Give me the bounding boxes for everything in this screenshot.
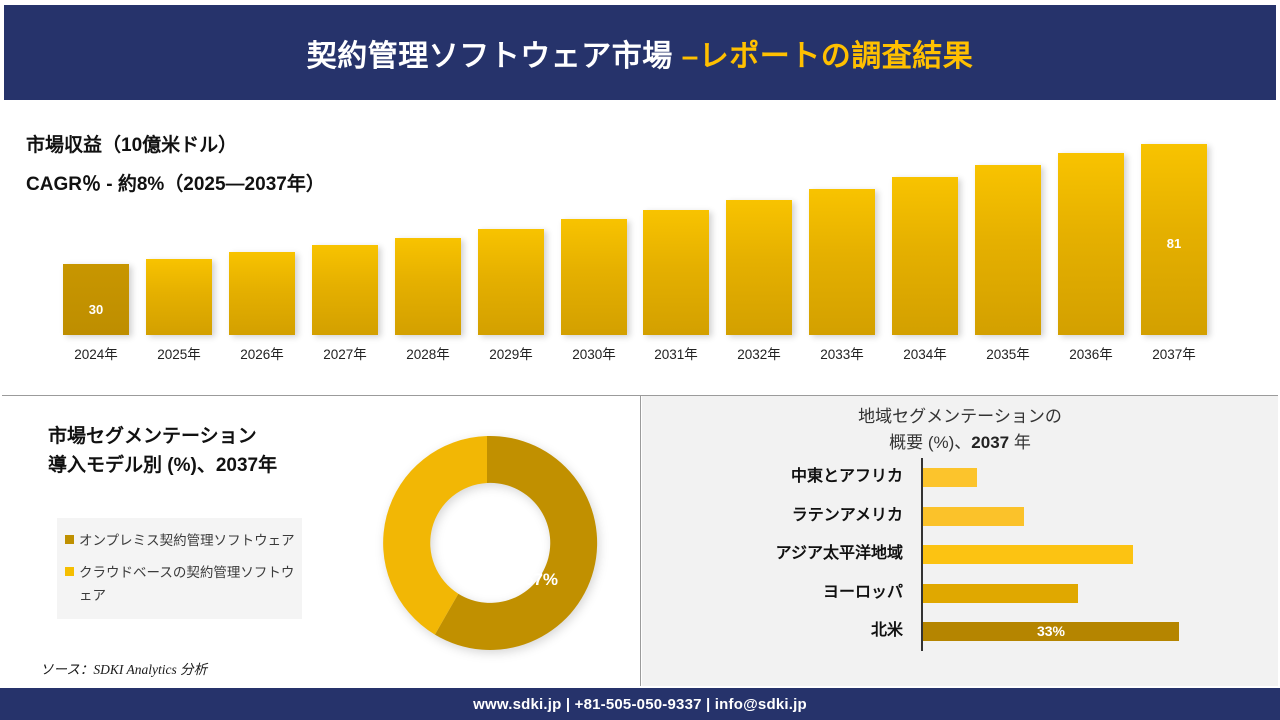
bar-rect <box>1058 153 1124 335</box>
bar-value-label: 81 <box>1141 236 1207 251</box>
legend-swatch-icon <box>65 567 74 576</box>
revenue-bar-chart: 市場収益（10億米ドル） CAGR％ - 約8%（2025―2037年） 308… <box>0 100 1280 395</box>
region-title-line1: 地域セグメンテーションの <box>642 404 1278 430</box>
bar-value-label: 30 <box>63 302 129 317</box>
axis-label-2037年: 2037年 <box>1134 343 1214 363</box>
page-title-main: 契約管理ソフトウェア市場 <box>307 40 682 73</box>
axis-label-2033年: 2033年 <box>802 343 882 363</box>
legend-item-on-premise[interactable]: オンプレミス契約管理ソフトウェア <box>65 530 296 552</box>
bar-rect <box>229 252 295 335</box>
bar-rect <box>478 229 544 335</box>
axis-label-2032年: 2032年 <box>719 343 799 363</box>
axis-label-2036年: 2036年 <box>1051 343 1131 363</box>
footer-contact: www.sdki.jp | +81-505-050-9337 | info@sd… <box>473 696 807 713</box>
axis-label-2031年: 2031年 <box>636 343 716 363</box>
legend-label: クラウドベースの契約管理ソフトウェア <box>79 562 296 607</box>
region-title-pre: 概要 (%)、 <box>889 433 971 452</box>
legend-label: オンプレミス契約管理ソフトウェア <box>79 530 295 552</box>
region-bar-chart: 中東とアフリカラテンアメリカアジア太平洋地域ヨーロッパ北米33% <box>642 458 1278 673</box>
segmentation-panel: 市場セグメンテーション 導入モデル別 (%)、2037年 オンプレミス契約管理ソ… <box>2 396 640 686</box>
page-title-accent: –レポートの調査結果 <box>682 40 974 73</box>
region-row-2: ラテンアメリカ <box>642 497 1278 535</box>
axis-label-2026年: 2026年 <box>222 343 302 363</box>
bar-rect <box>395 238 461 335</box>
page-header: 契約管理ソフトウェア市場 –レポートの調査結果 <box>4 5 1276 100</box>
segmentation-title: 市場セグメンテーション 導入モデル別 (%)、2037年 <box>48 422 378 481</box>
revenue-axis-labels: 2024年2025年2026年2027年2028年2029年2030年2031年… <box>55 343 1215 369</box>
region-panel: 地域セグメンテーションの 概要 (%)、2037 年 中東とアフリカラテンアメリ… <box>642 396 1278 686</box>
vertical-divider <box>640 396 641 686</box>
axis-label-2030年: 2030年 <box>554 343 634 363</box>
legend-item-cloud-based[interactable]: クラウドベースの契約管理ソフトウェア <box>65 562 296 607</box>
bar-rect <box>892 177 958 335</box>
bar-rect <box>726 200 792 335</box>
bar-rect <box>146 259 212 335</box>
region-bar-rect <box>923 584 1078 603</box>
axis-label-2035年: 2035年 <box>968 343 1048 363</box>
region-bar-value-label: 33% <box>923 622 1179 641</box>
donut-svg <box>372 428 602 658</box>
region-row-4: ヨーロッパ <box>642 574 1278 612</box>
axis-label-2028年: 2028年 <box>388 343 468 363</box>
bar-rect <box>312 245 378 335</box>
region-row-5: 北米33% <box>642 612 1278 650</box>
donut-chart: 67% <box>372 428 622 656</box>
bar-rect <box>809 189 875 335</box>
region-label: ラテンアメリカ <box>673 497 903 535</box>
segmentation-legend: オンプレミス契約管理ソフトウェア クラウドベースの契約管理ソフトウェア <box>57 518 302 619</box>
source-note: ソース：SDKI Analytics 分析 <box>40 658 207 678</box>
region-label: ヨーロッパ <box>673 574 903 612</box>
region-title: 地域セグメンテーションの 概要 (%)、2037 年 <box>642 404 1278 455</box>
region-bar-rect <box>923 545 1133 564</box>
segmentation-title-line2: 導入モデル別 (%)、2037年 <box>48 451 378 480</box>
bar-rect <box>643 210 709 335</box>
axis-label-2034年: 2034年 <box>885 343 965 363</box>
region-title-line2: 概要 (%)、2037 年 <box>642 430 1278 456</box>
legend-swatch-icon <box>65 535 74 544</box>
region-title-year: 2037 <box>971 433 1009 452</box>
region-label: 中東とアフリカ <box>673 458 903 496</box>
page-footer: www.sdki.jp | +81-505-050-9337 | info@sd… <box>0 688 1280 720</box>
segmentation-title-line1: 市場セグメンテーション <box>48 422 378 451</box>
axis-label-2025年: 2025年 <box>139 343 219 363</box>
region-bar-rect <box>923 468 977 487</box>
page-title: 契約管理ソフトウェア市場 –レポートの調査結果 <box>307 31 974 75</box>
axis-label-2024年: 2024年 <box>56 343 136 363</box>
bar-rect <box>561 219 627 335</box>
region-label: 北米 <box>673 612 903 650</box>
region-label: アジア太平洋地域 <box>673 535 903 573</box>
axis-label-2027年: 2027年 <box>305 343 385 363</box>
donut-value-label: 67% <box>524 570 558 590</box>
revenue-bars-area: 3081 <box>55 130 1215 335</box>
region-row-1: 中東とアフリカ <box>642 458 1278 496</box>
bar-rect <box>975 165 1041 335</box>
axis-label-2029年: 2029年 <box>471 343 551 363</box>
region-bar-rect <box>923 507 1024 526</box>
region-title-suffix: 年 <box>1009 433 1031 452</box>
region-row-3: アジア太平洋地域 <box>642 535 1278 573</box>
bar-rect <box>63 264 129 335</box>
